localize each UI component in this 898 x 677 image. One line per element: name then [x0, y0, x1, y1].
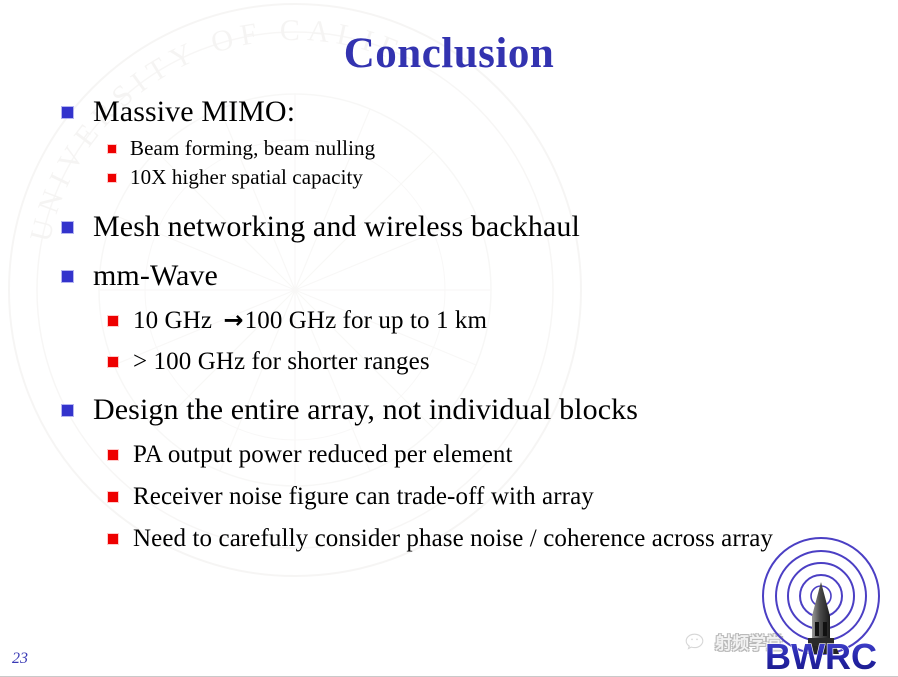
bullet-item-level1: mm-Wave: [0, 256, 820, 296]
bullet-text: mm-Wave: [93, 256, 218, 296]
bullet-text: 10X higher spatial capacity: [130, 163, 363, 191]
square-bullet-red-icon: [108, 534, 118, 544]
wechat-watermark-text: 射频学堂: [715, 629, 783, 654]
square-bullet-red-icon: [108, 145, 116, 153]
bwrc-wordmark: BWRC: [765, 636, 877, 674]
bullet-item-level2: Beam forming, beam nulling: [0, 134, 820, 162]
square-bullet-red-icon: [108, 492, 118, 502]
bullet-text: Massive MIMO:: [93, 92, 295, 132]
bullet-text: > 100 GHz for shorter ranges: [133, 345, 430, 378]
square-bullet-blue-icon: [62, 405, 73, 416]
square-bullet-red-icon: [108, 450, 118, 460]
bullet-item-level2: PA output power reduced per element: [0, 438, 820, 471]
bullet-item-level2: 10 GHz →100 GHz for up to 1 km: [0, 304, 820, 337]
bullet-item-level2: Receiver noise figure can trade-off with…: [0, 480, 820, 513]
campanile-tower-icon: [803, 582, 839, 654]
square-bullet-red-icon: [108, 174, 116, 182]
bullet-text: Need to carefully consider phase noise /…: [133, 522, 773, 555]
slide-body: Massive MIMO: Beam forming, beam nulling…: [0, 92, 820, 556]
bullet-item-level1: Mesh networking and wireless backhaul: [0, 207, 820, 247]
bullet-text: 10 GHz →100 GHz for up to 1 km: [133, 304, 487, 337]
bullet-item-level1: Massive MIMO:: [0, 92, 820, 132]
bullet-item-level2: 10X higher spatial capacity: [0, 163, 820, 191]
slide-title: Conclusion: [0, 30, 898, 77]
bullet-item-level2: > 100 GHz for shorter ranges: [0, 345, 820, 378]
square-bullet-blue-icon: [62, 222, 73, 233]
bullet-text: Mesh networking and wireless backhaul: [93, 207, 580, 247]
bullet-text: PA output power reduced per element: [133, 438, 513, 471]
bullet-item-level1: Design the entire array, not individual …: [0, 390, 820, 430]
bullet-text: Design the entire array, not individual …: [93, 390, 638, 430]
page-number: 23: [12, 650, 28, 668]
slide-canvas: UNIVERSITY OF CALIF Conclusion Massive M…: [0, 0, 898, 677]
square-bullet-red-icon: [108, 316, 118, 326]
bullet-item-level2: Need to carefully consider phase noise /…: [0, 522, 820, 555]
right-arrow-icon: →: [218, 306, 244, 334]
bullet-text: Receiver noise figure can trade-off with…: [133, 480, 594, 513]
text-after-arrow: 100 GHz for up to 1 km: [245, 307, 487, 334]
wechat-icon: [684, 631, 710, 653]
bullet-text: Beam forming, beam nulling: [130, 134, 375, 162]
square-bullet-blue-icon: [62, 271, 73, 282]
square-bullet-red-icon: [108, 357, 118, 367]
square-bullet-blue-icon: [62, 107, 73, 118]
text-before-arrow: 10 GHz: [133, 307, 218, 334]
wechat-watermark: 射频学堂: [684, 629, 783, 654]
